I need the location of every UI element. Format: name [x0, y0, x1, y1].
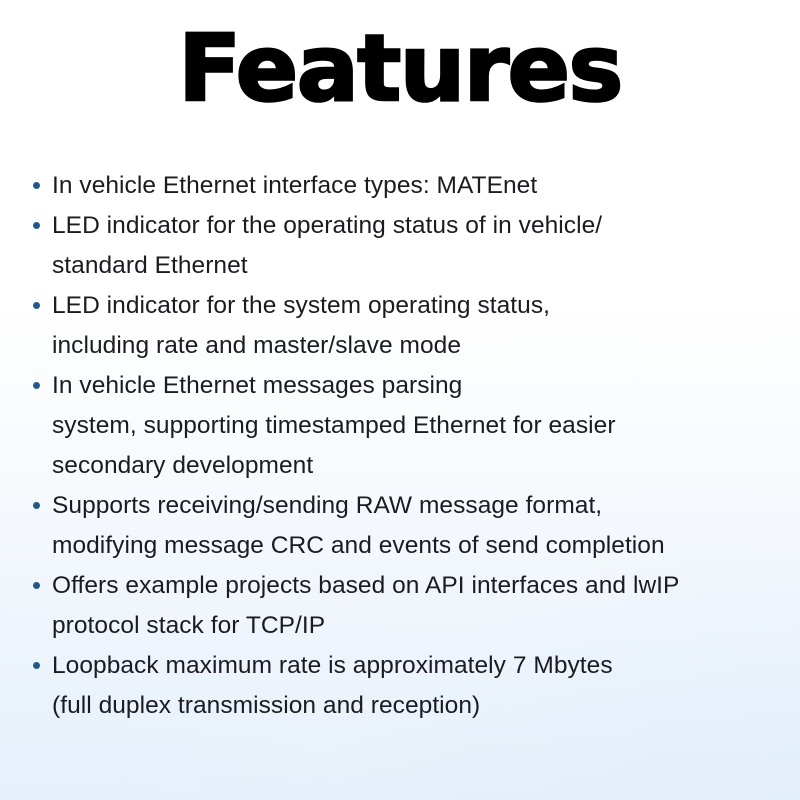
list-item-label: LED indicator for the system operating s… — [52, 286, 774, 366]
bullet-dot-icon — [33, 662, 40, 669]
bullet-dot-icon — [33, 502, 40, 509]
page-title: Features — [0, 14, 800, 124]
bullet-dot-icon — [33, 222, 40, 229]
features-slide: Features In vehicle Ethernet interface t… — [0, 0, 800, 800]
list-item-label: In vehicle Ethernet messages parsing sys… — [52, 366, 774, 486]
list-item: Supports receiving/sending RAW message f… — [30, 486, 774, 566]
bullet-dot-icon — [33, 182, 40, 189]
list-item-label: In vehicle Ethernet interface types: MAT… — [52, 166, 774, 206]
bullet-dot-icon — [33, 382, 40, 389]
list-item: In vehicle Ethernet messages parsing sys… — [30, 366, 774, 486]
slide-content: Features In vehicle Ethernet interface t… — [0, 0, 800, 800]
list-item: LED indicator for the operating status o… — [30, 206, 774, 286]
features-bullet-list: In vehicle Ethernet interface types: MAT… — [30, 166, 774, 726]
list-item-label: Offers example projects based on API int… — [52, 566, 774, 646]
list-item-label: LED indicator for the operating status o… — [52, 206, 774, 286]
list-item: In vehicle Ethernet interface types: MAT… — [30, 166, 774, 206]
list-item: Offers example projects based on API int… — [30, 566, 774, 646]
list-item: Loopback maximum rate is approximately 7… — [30, 646, 774, 726]
list-item-label: Supports receiving/sending RAW message f… — [52, 486, 774, 566]
bullet-dot-icon — [33, 582, 40, 589]
bullet-dot-icon — [33, 302, 40, 309]
list-item-label: Loopback maximum rate is approximately 7… — [52, 646, 774, 726]
list-item: LED indicator for the system operating s… — [30, 286, 774, 366]
